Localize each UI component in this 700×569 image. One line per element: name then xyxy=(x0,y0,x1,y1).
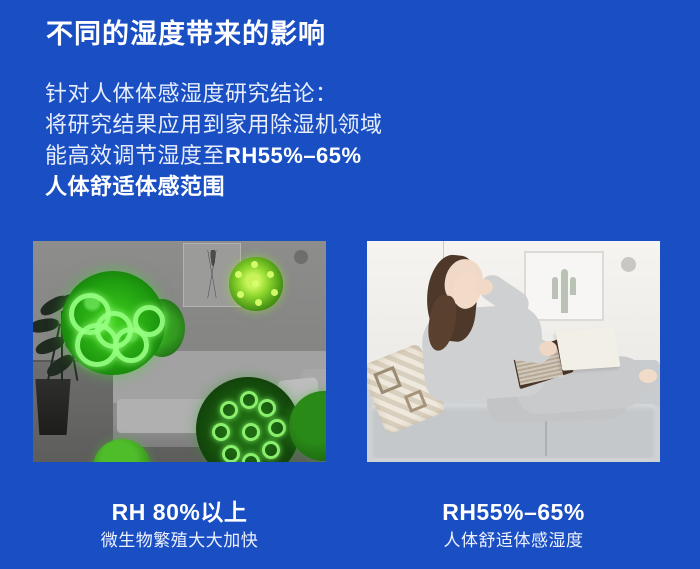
cactus-arm-right xyxy=(570,277,576,295)
microbe-dot xyxy=(240,391,258,409)
page-title: 不同的湿度带来的影响 xyxy=(46,18,326,52)
photo-comfort-humidity-scene xyxy=(367,241,660,462)
microbe-spike xyxy=(255,299,262,306)
caption-sub-high: 微生物繁殖大大加快 xyxy=(33,530,326,552)
microbe-dot xyxy=(222,445,240,462)
microbe-dot xyxy=(220,401,238,419)
microbe-spike xyxy=(271,289,278,296)
woman-hand-at-brow xyxy=(475,279,493,295)
photo-high-humidity xyxy=(33,241,326,462)
cactus-arm-left xyxy=(552,277,558,299)
body-line-4: 人体舒适体感范围 xyxy=(45,171,475,202)
caption-title-high: RH 80%以上 xyxy=(33,498,326,526)
caption-title-comfort: RH55%–65% xyxy=(367,498,660,526)
plant-leaf xyxy=(33,317,60,334)
microbe-spike xyxy=(237,291,244,298)
wall-speaker-icon xyxy=(294,250,308,264)
microbe-dot xyxy=(262,441,280,459)
plant-leaf xyxy=(44,352,76,380)
body-line-2: 将研究结果应用到家用除湿机领域 xyxy=(45,109,475,140)
branch-artwork-icon xyxy=(204,250,222,298)
woman-foot xyxy=(639,369,657,383)
photo-comfort-humidity xyxy=(367,241,660,462)
wall-art-frame-light xyxy=(524,251,604,321)
body-copy-block: 针对人体体感湿度研究结论： 将研究结果应用到家用除湿机领域 能高效调节湿度至RH… xyxy=(45,78,475,202)
book-right-page xyxy=(555,327,620,370)
woman-hand-on-book xyxy=(539,341,557,356)
pillow-motif xyxy=(404,389,427,412)
microbe-spike xyxy=(267,271,274,278)
microbe-spike xyxy=(252,280,259,287)
wall-speaker-icon xyxy=(621,257,636,272)
microbe-spike xyxy=(235,271,242,278)
caption-comfort-humidity: RH55%–65% 人体舒适体感湿度 xyxy=(367,498,660,552)
microbe-dot xyxy=(242,453,260,462)
body-line-3-highlight: RH55%–65% xyxy=(225,143,362,168)
poster-canvas: 不同的湿度带来的影响 针对人体体感湿度研究结论： 将研究结果应用到家用除湿机领域… xyxy=(0,0,700,569)
cactus-trunk xyxy=(561,269,568,313)
microbe-dot xyxy=(268,419,286,437)
body-line-1: 针对人体体感湿度研究结论： xyxy=(45,78,475,109)
cactus-artwork-icon xyxy=(549,267,579,313)
microbe-dot xyxy=(258,399,276,417)
microbe-sphere-medium xyxy=(229,257,283,311)
caption-high-humidity: RH 80%以上 微生物繁殖大大加快 xyxy=(33,498,326,552)
microbe-spike xyxy=(251,261,258,268)
microbe-sphere-large xyxy=(61,271,165,375)
body-line-3-prefix: 能高效调节湿度至 xyxy=(45,143,225,168)
photo-high-humidity-scene xyxy=(33,241,326,462)
microbe-ring xyxy=(133,305,165,337)
caption-sub-comfort: 人体舒适体感湿度 xyxy=(367,530,660,552)
microbe-dot xyxy=(212,423,230,441)
pillow-motif xyxy=(373,366,402,395)
body-line-3: 能高效调节湿度至RH55%–65% xyxy=(45,140,475,171)
microbe-dot xyxy=(242,423,260,441)
